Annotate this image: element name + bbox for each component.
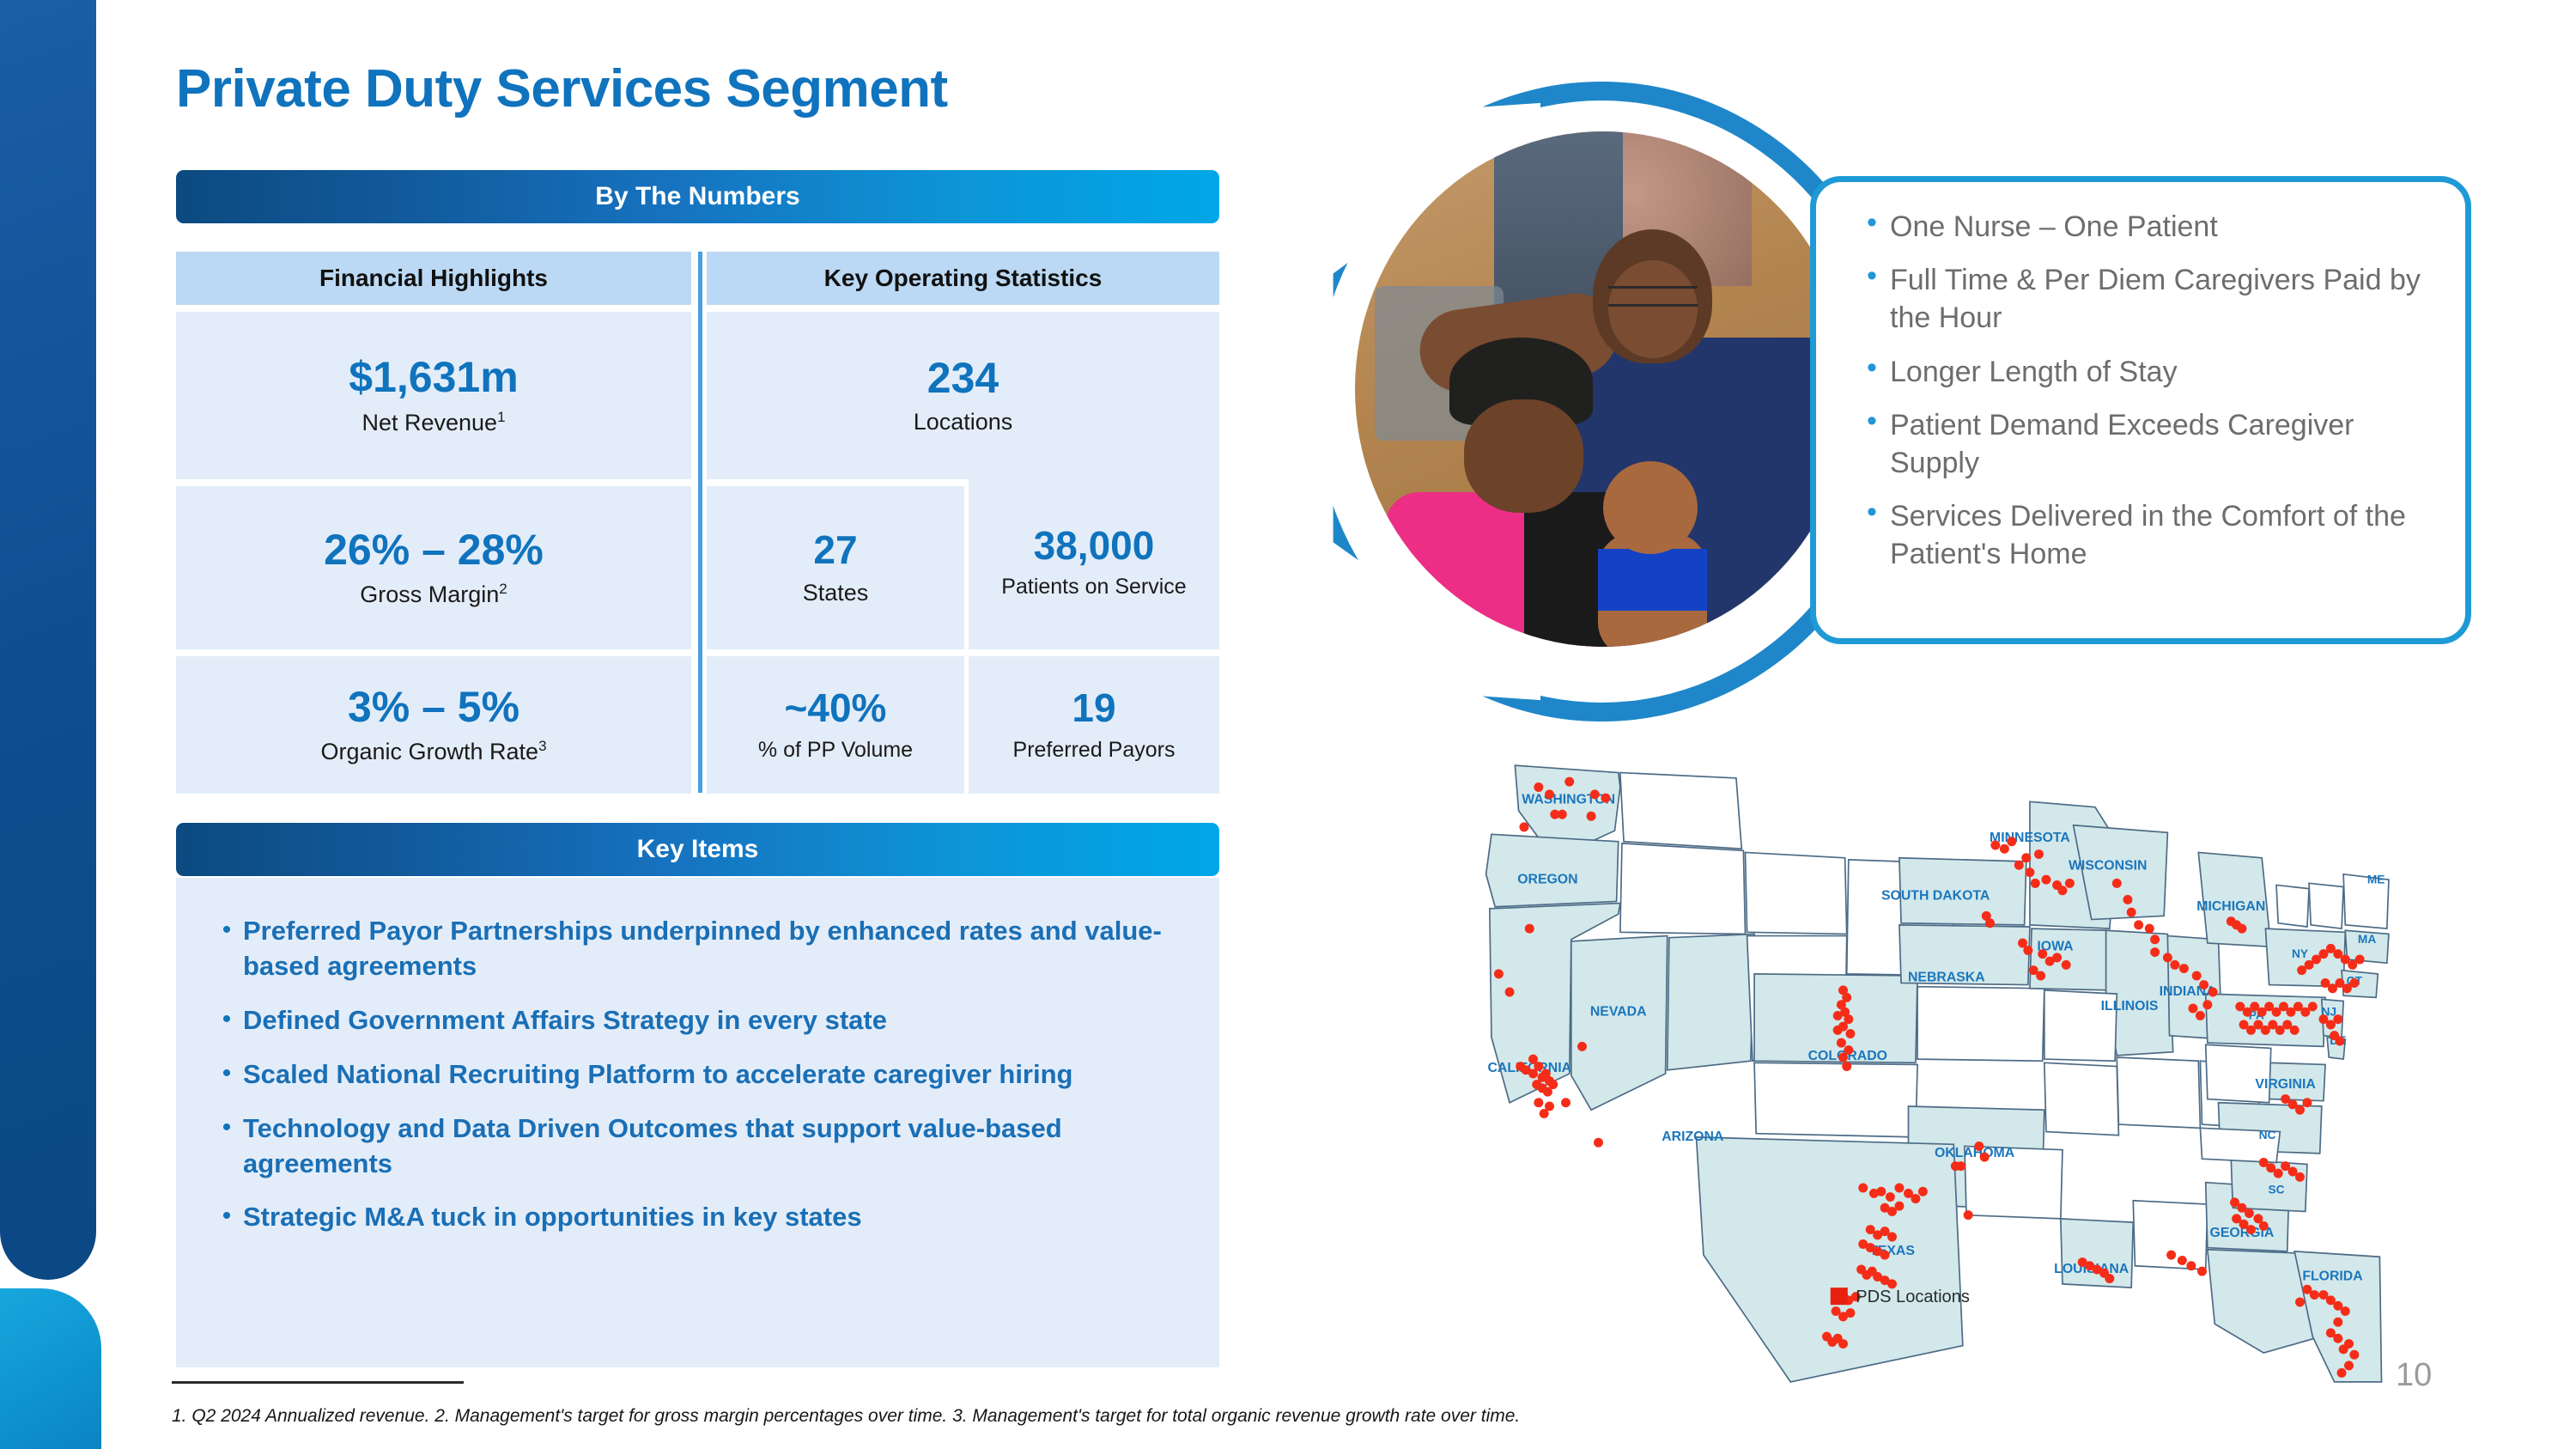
- map-location-pin: [2202, 1000, 2212, 1009]
- map-location-pin: [2025, 868, 2034, 877]
- map-location-pin: [2295, 1298, 2305, 1307]
- map-location-pin: [2170, 960, 2179, 970]
- bullet-icon: •: [1854, 406, 1890, 435]
- map-location-pin: [1601, 794, 1610, 803]
- stat-value: 3% – 5%: [348, 685, 519, 730]
- legend-swatch: [1831, 1288, 1848, 1305]
- map-location-pin: [2333, 1334, 2342, 1343]
- map-location-pin: [2031, 879, 2040, 888]
- list-item-label: Patient Demand Exceeds Caregiver Supply: [1890, 406, 2422, 482]
- map-location-pin: [2062, 960, 2071, 970]
- map-location-pin: [2344, 1361, 2354, 1370]
- map-state-label: NY: [2292, 947, 2308, 960]
- map-location-pin: [2065, 879, 2075, 888]
- map-location-pin: [1887, 1233, 1897, 1242]
- column-divider: [698, 252, 702, 793]
- list-item-label: One Nurse – One Patient: [1890, 208, 2218, 246]
- map-location-pin: [2036, 971, 2045, 981]
- map-location-pin: [2007, 837, 2016, 846]
- by-the-numbers-band: By The Numbers: [176, 170, 1219, 223]
- map-location-pin: [1519, 822, 1528, 831]
- map-location-pin: [2333, 1318, 2342, 1327]
- list-item: • Preferred Payor Partnerships underpinn…: [210, 914, 1178, 984]
- list-item: • Scaled National Recruiting Platform to…: [210, 1057, 1178, 1093]
- map-location-pin: [1594, 1138, 1603, 1148]
- list-item: • One Nurse – One Patient: [1854, 208, 2431, 246]
- map-location-pin: [2150, 935, 2160, 944]
- map-state-label: MICHIGAN: [2196, 899, 2265, 914]
- map-location-pin: [2197, 1267, 2207, 1276]
- stat-label: Organic Growth Rate3: [320, 738, 546, 765]
- map-location-pin: [2112, 879, 2122, 888]
- map-location-pin: [2052, 953, 2062, 962]
- bullet-icon: •: [210, 1003, 243, 1033]
- map-location-pin: [2333, 1014, 2342, 1024]
- list-item: • Full Time & Per Diem Caregivers Paid b…: [1854, 261, 2431, 337]
- map-location-pin: [2295, 1105, 2305, 1115]
- map-location-pin: [2302, 1098, 2312, 1107]
- list-item: • Strategic M&A tuck in opportunities in…: [210, 1200, 1178, 1235]
- map-location-pin: [2349, 978, 2359, 988]
- map-location-pin: [1985, 918, 1995, 928]
- stat-locations: 234 Locations: [707, 312, 1219, 479]
- map-state-label: NC: [2259, 1129, 2276, 1142]
- map-location-pin: [2341, 1306, 2350, 1316]
- map-location-pin: [1842, 1062, 1851, 1071]
- bullet-icon: •: [210, 1200, 243, 1230]
- stat-label: States: [803, 580, 869, 606]
- map-location-pin: [1558, 810, 1567, 819]
- map-location-pin: [2245, 1209, 2254, 1218]
- map-location-pin: [1833, 1026, 1843, 1035]
- map-location-pin: [2163, 953, 2172, 962]
- stat-value: 38,000: [1034, 525, 1155, 566]
- map-location-pin: [1974, 1142, 1984, 1151]
- map-location-pin: [1534, 1062, 1543, 1071]
- map-state-label: OREGON: [1517, 872, 1577, 886]
- column-header-key-operating-statistics: Key Operating Statistics: [707, 252, 1219, 305]
- list-item-label: Scaled National Recruiting Platform to a…: [243, 1057, 1072, 1093]
- map-location-pin: [2145, 924, 2154, 934]
- map-location-pin: [2179, 964, 2189, 973]
- bullet-icon: •: [1854, 261, 1890, 290]
- map-state-label: NEVADA: [1590, 1004, 1647, 1019]
- slide-root: Private Duty Services Segment By The Num…: [0, 0, 2576, 1449]
- map-location-pin: [1894, 1184, 1904, 1193]
- map-location-pin: [2344, 1339, 2354, 1349]
- map-location-pin: [1534, 1098, 1543, 1107]
- map-location-pin: [2337, 1368, 2347, 1378]
- list-item-label: Services Delivered in the Comfort of the…: [1890, 497, 2422, 573]
- map-location-pin: [2178, 1256, 2187, 1265]
- list-item-label: Technology and Data Driven Outcomes that…: [243, 1111, 1178, 1182]
- map-location-pin: [1886, 1192, 1895, 1202]
- stat-states: 27 States: [707, 486, 964, 649]
- map-location-pin: [1838, 1053, 1848, 1062]
- stat-patients-on-service: 38,000 Patients on Service: [969, 475, 1219, 649]
- map-location-pin: [2034, 849, 2044, 859]
- map-location-pin: [1540, 1109, 1549, 1118]
- map-location-pin: [2166, 1251, 2176, 1260]
- stat-label: Preferred Payors: [1013, 738, 1176, 763]
- map-location-pin: [1577, 1042, 1587, 1051]
- map-location-pin: [2208, 988, 2218, 997]
- bullet-icon: •: [1854, 208, 1890, 237]
- list-item-label: Full Time & Per Diem Caregivers Paid by …: [1890, 261, 2422, 337]
- map-location-pin: [2232, 920, 2241, 929]
- map-location-pin: [2186, 1261, 2196, 1270]
- legend-label: PDS Locations: [1856, 1288, 1970, 1306]
- map-location-pin: [2199, 980, 2208, 989]
- map-location-pin: [2021, 853, 2031, 862]
- map-location-pin: [1837, 1038, 1846, 1048]
- list-item-label: Strategic M&A tuck in opportunities in k…: [243, 1200, 862, 1235]
- highlights-card: • One Nurse – One Patient • Full Time & …: [1810, 176, 2471, 644]
- caregiver-patient-photo: [1355, 131, 1851, 647]
- map-location-pin: [1956, 1161, 1965, 1171]
- left-rail-top-decoration: [0, 0, 96, 1280]
- map-location-pin: [2134, 920, 2143, 929]
- map-location-pin: [1990, 841, 2000, 850]
- map-location-pin: [2310, 1290, 2319, 1300]
- page-title: Private Duty Services Segment: [176, 58, 948, 119]
- stat-label: Gross Margin2: [360, 581, 507, 608]
- map-location-pin: [1564, 777, 1574, 787]
- map-state-label: VIRGINIA: [2255, 1077, 2316, 1092]
- map-location-pin: [1858, 1184, 1868, 1193]
- map-location-pin: [1911, 1194, 1920, 1203]
- footnote-text: 1. Q2 2024 Annualized revenue. 2. Manage…: [172, 1406, 1520, 1427]
- map-state-label: ME: [2367, 873, 2385, 886]
- map-location-pin: [1525, 924, 1534, 934]
- map-location-pin: [2123, 895, 2132, 904]
- stat-net-revenue: $1,631m Net Revenue1: [176, 312, 691, 479]
- map-state-label: SOUTH DAKOTA: [1881, 888, 1990, 903]
- stat-label: Patients on Service: [1001, 575, 1186, 600]
- map-location-pin: [2150, 947, 2160, 957]
- map-location-pin: [1845, 1308, 1855, 1318]
- map-location-pin: [2295, 1172, 2305, 1182]
- key-items-list: • Preferred Payor Partnerships underpinn…: [176, 878, 1219, 1367]
- list-item: • Technology and Data Driven Outcomes th…: [210, 1111, 1178, 1182]
- map-location-pin: [2246, 1225, 2256, 1234]
- map-location-pin: [2355, 955, 2365, 965]
- map-location-pin: [2023, 946, 2032, 955]
- map-location-pin: [1545, 789, 1554, 799]
- list-item: • Services Delivered in the Comfort of t…: [1854, 497, 2431, 573]
- footnote-divider: [172, 1381, 464, 1384]
- stat-value: ~40%: [785, 687, 887, 728]
- map-location-pin: [1838, 1339, 1848, 1349]
- list-item: • Defined Government Affairs Strategy in…: [210, 1003, 1178, 1038]
- map-location-pin: [2041, 875, 2050, 885]
- stat-gross-margin: 26% – 28% Gross Margin2: [176, 486, 691, 649]
- us-map-svg: WASHINGTONOREGONCALIFORNIANEVADAARIZONAC…: [1400, 747, 2499, 1400]
- stat-preferred-payors: 19 Preferred Payors: [969, 656, 1219, 794]
- map-location-pin: [2057, 886, 2067, 895]
- map-state-label: WISCONSIN: [2069, 859, 2147, 874]
- stat-value: 26% – 28%: [324, 527, 544, 573]
- map-state-label: ARIZONA: [1662, 1129, 1724, 1144]
- map-location-pin: [2274, 1169, 2283, 1178]
- map-location-pin: [1494, 969, 1504, 978]
- map-location-pin: [1505, 988, 1515, 997]
- map-location-pin: [2127, 908, 2136, 917]
- map-location-pin: [1876, 1187, 1886, 1196]
- map-location-pin: [2000, 844, 2009, 854]
- bullet-icon: •: [210, 914, 243, 944]
- list-item: • Longer Length of Stay: [1854, 353, 2431, 391]
- stat-label: Locations: [914, 409, 1013, 435]
- list-item: • Patient Demand Exceeds Caregiver Suppl…: [1854, 406, 2431, 482]
- bullet-icon: •: [210, 1111, 243, 1142]
- map-state-label: SC: [2269, 1183, 2285, 1196]
- map-location-pin: [2290, 1026, 2300, 1035]
- map-location-pin: [1590, 789, 1600, 799]
- map-state-label: MA: [2358, 933, 2376, 946]
- map-location-pin: [2192, 971, 2202, 981]
- map-location-pin: [2105, 1274, 2114, 1283]
- stat-value: 234: [927, 356, 999, 401]
- map-location-pin: [1534, 782, 1543, 792]
- list-item-label: Defined Government Affairs Strategy in e…: [243, 1003, 887, 1038]
- left-rail-bottom-decoration: [0, 1288, 101, 1449]
- map-location-pin: [1587, 812, 1596, 821]
- map-state-label: NEBRASKA: [1908, 970, 1985, 984]
- map-location-pin: [1894, 1202, 1904, 1211]
- map-location-pin: [1561, 1098, 1571, 1107]
- map-state-label: MINNESOTA: [1990, 831, 2070, 845]
- map-location-pin: [2335, 1037, 2344, 1046]
- stat-organic-growth-rate: 3% – 5% Organic Growth Rate3: [176, 656, 691, 794]
- map-location-pin: [2014, 861, 2024, 870]
- column-header-financial-highlights: Financial Highlights: [176, 252, 691, 305]
- map-state-label: WASHINGTON: [1522, 792, 1615, 807]
- key-items-band: Key Items: [176, 823, 1219, 876]
- map-location-pin: [1833, 1011, 1843, 1020]
- map-location-pin: [2188, 1004, 2197, 1014]
- map-state-label: ILLINOIS: [2101, 999, 2159, 1014]
- stat-label: % of PP Volume: [758, 738, 913, 763]
- us-locations-map: WASHINGTONOREGONCALIFORNIANEVADAARIZONAC…: [1400, 747, 2499, 1400]
- map-location-pin: [2038, 949, 2047, 959]
- bullet-icon: •: [1854, 353, 1890, 382]
- map-location-pin: [1918, 1187, 1928, 1196]
- map-location-pin: [1964, 1210, 1973, 1220]
- list-item-label: Preferred Payor Partnerships underpinned…: [243, 914, 1178, 984]
- bullet-icon: •: [210, 1057, 243, 1087]
- stat-pp-volume: ~40% % of PP Volume: [707, 656, 964, 794]
- map-location-pin: [1980, 1153, 1990, 1162]
- list-item-label: Longer Length of Stay: [1890, 353, 2178, 391]
- bullet-icon: •: [1854, 497, 1890, 527]
- stat-value: 27: [813, 529, 857, 570]
- stat-label: Net Revenue1: [361, 409, 505, 436]
- map-location-pin: [2196, 1011, 2205, 1020]
- map-state-label: FLORIDA: [2302, 1269, 2363, 1284]
- map-location-pin: [2349, 1350, 2359, 1360]
- map-location-pin: [1880, 1251, 1890, 1260]
- map-location-pin: [2308, 1002, 2318, 1011]
- map-location-pin: [1845, 1029, 1855, 1038]
- map-location-pin: [1548, 1080, 1558, 1089]
- stat-value: $1,631m: [349, 355, 518, 400]
- map-location-pin: [2259, 1221, 2269, 1231]
- stat-value: 19: [1072, 687, 1115, 728]
